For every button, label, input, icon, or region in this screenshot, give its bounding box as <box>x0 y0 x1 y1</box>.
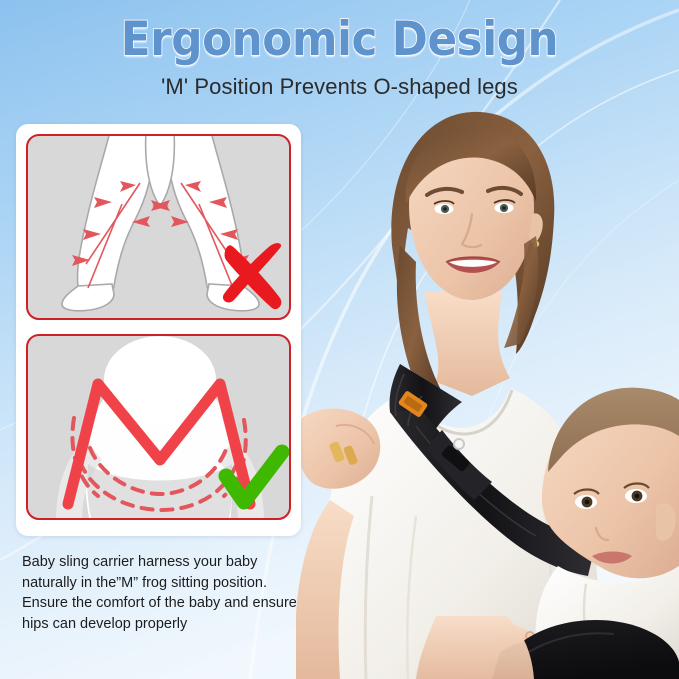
feature-caption: Baby sling carrier harness your baby nat… <box>22 552 312 634</box>
lifestyle-photo <box>296 96 679 679</box>
baby-legs-o-shape-illustration <box>62 136 259 311</box>
panel-incorrect-o-shaped-legs: incorrect <box>26 134 291 320</box>
diagram-card: incorrect <box>16 124 301 536</box>
page-subtitle: 'M' Position Prevents O-shaped legs <box>0 74 679 100</box>
panel-correct-m-position: correct <box>26 334 291 520</box>
product-feature-poster: Ergonomic Design 'M' Position Prevents O… <box>0 0 679 679</box>
page-title: Ergonomic Design <box>24 16 655 64</box>
poster-header: Ergonomic Design 'M' Position Prevents O… <box>0 0 679 100</box>
